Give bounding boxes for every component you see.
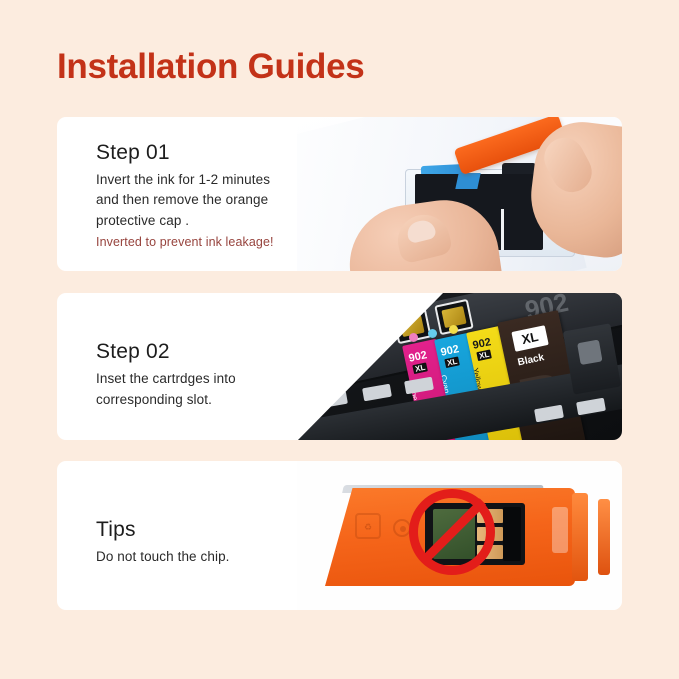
step-body-line: Invert the ink for 1-2 minutes bbox=[96, 170, 357, 191]
cartridge-variant: XL bbox=[476, 349, 492, 361]
cartridge-variant: XL bbox=[511, 325, 548, 352]
cartridge-blue-edge bbox=[455, 173, 480, 189]
yellow-indicator-dot bbox=[449, 325, 458, 334]
cyan-indicator-dot bbox=[428, 329, 437, 338]
guide-card-step-01: Step 01 Invert the ink for 1-2 minutes a… bbox=[57, 117, 622, 271]
recycle-icon: ♻ bbox=[355, 513, 381, 539]
step-note: Inverted to prevent ink leakage! bbox=[96, 232, 357, 252]
step-body-line: corresponding slot. bbox=[96, 390, 357, 411]
cap-rib bbox=[598, 499, 610, 575]
cartridge-body-seam bbox=[501, 209, 504, 250]
chip-slot bbox=[503, 507, 521, 561]
step-heading: Step 02 bbox=[96, 339, 357, 364]
page-title: Installation Guides bbox=[57, 45, 364, 89]
cap-rib bbox=[572, 493, 588, 581]
card-text-step-01: Step 01 Invert the ink for 1-2 minutes a… bbox=[57, 117, 357, 271]
card-text-step-02: Step 02 Inset the cartrdges into corresp… bbox=[57, 293, 357, 440]
cap-side-slot bbox=[552, 507, 568, 553]
guide-card-step-02: Step 02 Inset the cartrdges into corresp… bbox=[57, 293, 622, 440]
card-text-tips: Tips Do not touch the chip. bbox=[57, 461, 357, 610]
installation-guides-page: Installation Guides Step 01 Invert the i… bbox=[0, 0, 679, 679]
step-body-line: Do not touch the chip. bbox=[96, 547, 357, 568]
cartridge-variant: XL bbox=[412, 362, 428, 374]
step-heading: Tips bbox=[96, 517, 357, 542]
step-body-line: and then remove the orange bbox=[96, 190, 357, 211]
cartridge-variant: XL bbox=[444, 356, 460, 368]
step-body-line: Inset the cartrdges into bbox=[96, 369, 357, 390]
guide-card-tips: Tips Do not touch the chip. ♻ bbox=[57, 461, 622, 610]
step-body-line: protective cap . bbox=[96, 211, 357, 232]
step-heading: Step 01 bbox=[96, 140, 357, 165]
prohibition-icon bbox=[409, 489, 495, 575]
magenta-indicator-dot bbox=[409, 333, 418, 342]
